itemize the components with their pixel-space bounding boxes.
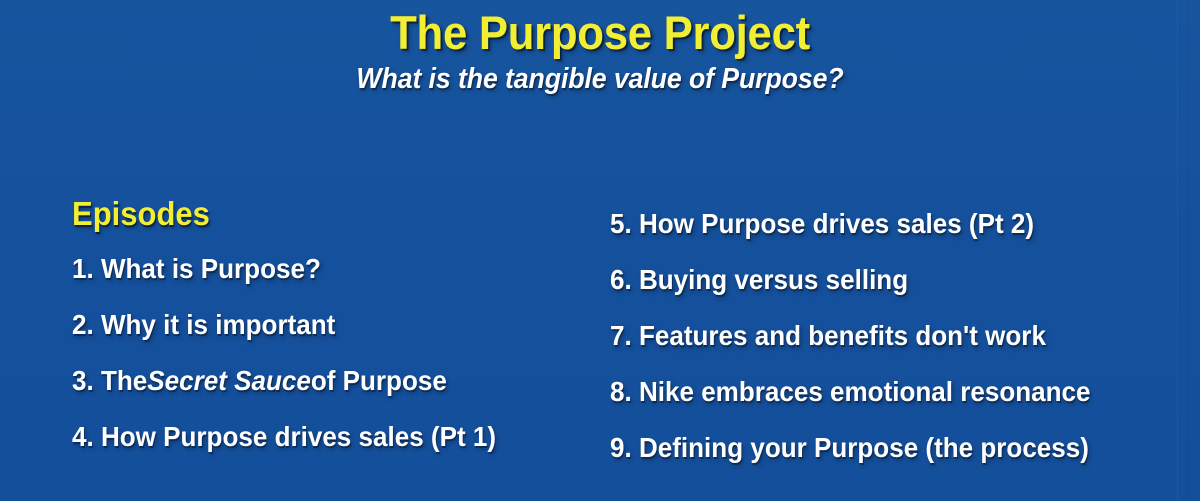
episodes-right-column: 5. How Purpose drives sales (Pt 2) 6. Bu… — [610, 196, 1190, 476]
episodes-heading: Episodes — [72, 196, 542, 232]
list-item: 3. The Secret Sauce of Purpose — [72, 353, 537, 409]
episodes-left-column: Episodes 1. What is Purpose? 2. Why it i… — [72, 196, 572, 465]
episode-label-7: 7. Features and benefits don't work — [610, 322, 1046, 350]
episode-label-2: 2. Why it is important — [72, 311, 335, 339]
episode-list-right: 5. How Purpose drives sales (Pt 2) 6. Bu… — [610, 196, 1190, 476]
title-block: The Purpose Project What is the tangible… — [0, 8, 1200, 96]
list-item: 1. What is Purpose? — [72, 241, 537, 297]
episode-label-3-pre: 3. The — [72, 367, 147, 395]
episode-list-left: 1. What is Purpose? 2. Why it is importa… — [72, 241, 572, 465]
slide-subtitle: What is the tangible value of Purpose? — [48, 64, 1152, 96]
list-item: 2. Why it is important — [72, 297, 537, 353]
episode-label-9: 9. Defining your Purpose (the process) — [610, 434, 1089, 462]
episode-label-5: 5. How Purpose drives sales (Pt 2) — [610, 210, 1034, 238]
episode-label-6: 6. Buying versus selling — [610, 266, 908, 294]
list-item: 4. How Purpose drives sales (Pt 1) — [72, 409, 537, 465]
list-item: 7. Features and benefits don't work — [610, 308, 1149, 364]
episode-label-8: 8. Nike embraces emotional resonance — [610, 378, 1091, 406]
list-item: 6. Buying versus selling — [610, 252, 1149, 308]
list-item: 5. How Purpose drives sales (Pt 2) — [610, 196, 1149, 252]
list-item: 9. Defining your Purpose (the process) — [610, 420, 1149, 476]
slide-title: The Purpose Project — [42, 8, 1158, 58]
list-item: 8. Nike embraces emotional resonance — [610, 364, 1149, 420]
episode-columns: Episodes 1. What is Purpose? 2. Why it i… — [0, 196, 1200, 496]
episode-label-3-emphasis: Secret Sauce — [147, 367, 311, 395]
presentation-slide: The Purpose Project What is the tangible… — [0, 0, 1200, 501]
episode-label-4: 4. How Purpose drives sales (Pt 1) — [72, 423, 496, 451]
episode-label-1: 1. What is Purpose? — [72, 255, 321, 283]
episode-label-3-post: of Purpose — [311, 367, 447, 395]
